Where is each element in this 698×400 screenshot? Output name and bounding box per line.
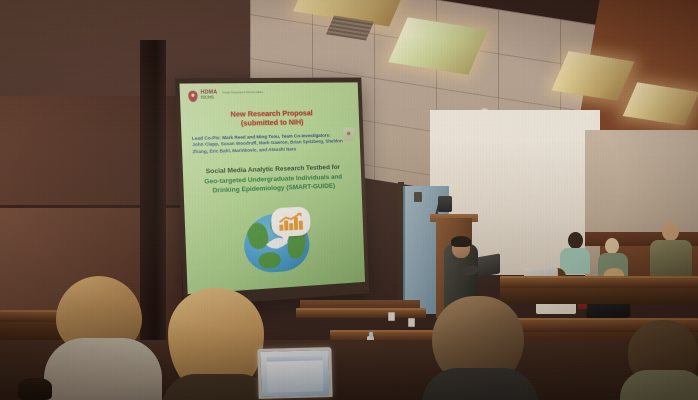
slide-org-logo: HDMA ISCHS Health Disparities & Minority… xyxy=(188,89,351,108)
slide-authors: Lead Co-PIs: Mark Reed and Ming Tsou, Te… xyxy=(190,132,353,156)
head xyxy=(568,232,583,249)
desk-row-back xyxy=(500,276,698,288)
logo-line-2: ISCHS xyxy=(201,96,218,100)
laptop-window-titlebar xyxy=(267,355,323,361)
bar-chart-bar xyxy=(279,225,283,231)
institution-seal-icon: ☸ xyxy=(343,127,354,141)
laptop-window xyxy=(267,355,324,392)
logo-tagline: Health Disparities & Minority Affairs xyxy=(223,92,264,95)
continent-shape xyxy=(245,221,271,251)
torso xyxy=(650,240,692,280)
torso xyxy=(560,248,590,274)
laptop-screen xyxy=(257,347,332,399)
speech-bubble-icon xyxy=(271,206,311,237)
desk-row-back-front xyxy=(500,288,698,304)
head xyxy=(605,238,619,254)
slide-org-logo-text: HDMA ISCHS xyxy=(201,90,218,100)
slide-title-line-2: (submitted to NIH) xyxy=(189,117,352,129)
trend-arrow-icon xyxy=(279,213,303,224)
location-pin-icon xyxy=(188,91,198,102)
continent-shape xyxy=(259,252,281,269)
desk-row-left-upper xyxy=(296,308,426,318)
wall-device-icon xyxy=(414,192,422,202)
bar-chart-bar xyxy=(289,223,293,230)
slide-artwork xyxy=(192,191,357,290)
ceiling-speaker-icon xyxy=(438,196,452,212)
torso xyxy=(620,370,698,400)
slide-content: HDMA ISCHS Health Disparities & Minority… xyxy=(179,82,365,294)
torso xyxy=(44,338,162,400)
globe-icon xyxy=(243,209,310,274)
projection-screen: HDMA ISCHS Health Disparities & Minority… xyxy=(175,77,369,306)
torso xyxy=(422,368,538,400)
head xyxy=(662,222,679,241)
left-pillar xyxy=(140,40,166,340)
wall-outlet-2 xyxy=(408,318,415,327)
wall-outlet-1 xyxy=(388,312,395,321)
presenter-hair xyxy=(451,236,471,247)
open-laptop-icon[interactable] xyxy=(257,347,332,399)
coffee-cup-icon xyxy=(18,378,52,400)
lecture-hall-photo: HDMA ISCHS Health Disparities & Minority… xyxy=(0,0,698,400)
slide-title: New Research Proposal (submitted to NIH) xyxy=(189,108,352,129)
projection-screen-surface: HDMA ISCHS Health Disparities & Minority… xyxy=(179,82,365,294)
